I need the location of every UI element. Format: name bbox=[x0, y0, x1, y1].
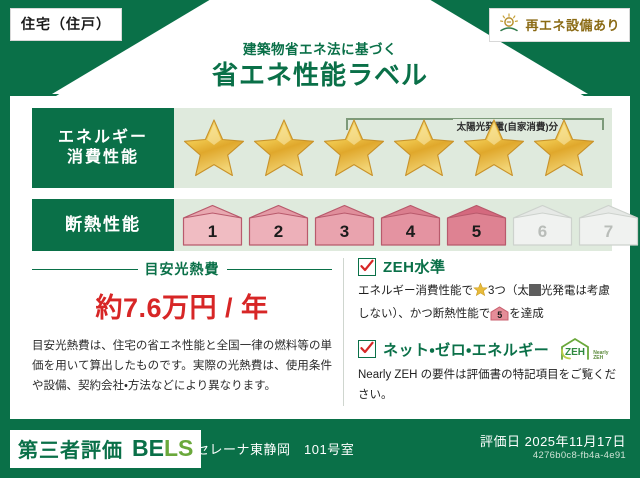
main-card: エネルギー 消費性能 太陽光発電(自家消費)分 断熱性能 1234567 bbox=[10, 96, 630, 419]
utility-cost-heading: 目安光熱費 bbox=[32, 259, 332, 279]
zeh-desc-part2: 3つ（太 bbox=[488, 285, 529, 297]
insulation-level-2: 2 bbox=[248, 204, 309, 246]
insulation-level-scale: 1234567 bbox=[174, 199, 612, 251]
insulation-level-1: 1 bbox=[182, 204, 243, 246]
insulation-level-value: 4 bbox=[380, 222, 441, 242]
bels-logo-part2: LS bbox=[164, 435, 193, 461]
energy-label-line2: 消費性能 bbox=[67, 148, 139, 168]
zeh-logo-sub2: ZEH bbox=[593, 355, 603, 361]
housing-type-tag: 住宅（住戸） bbox=[10, 8, 122, 41]
utility-cost-block: 目安光熱費 約7.6万円 / 年 目安光熱費は、住宅の省エネ性能と全国一律の燃料… bbox=[32, 259, 332, 396]
insulation-level-3: 3 bbox=[314, 204, 375, 246]
insulation-performance-label: 断熱性能 bbox=[32, 199, 174, 251]
evaluation-date: 評価日 2025年11月17日 bbox=[480, 431, 626, 450]
insulation-performance-row: 断熱性能 1234567 bbox=[32, 199, 612, 251]
zeh-desc-part1: エネルギー消費性能で bbox=[358, 285, 473, 297]
utility-cost-heading-text: 目安光熱費 bbox=[145, 259, 220, 279]
insulation-level-5: 5 bbox=[446, 204, 507, 246]
third-party-eval-label: 第三者評価 bbox=[18, 434, 123, 463]
heading-rule-right bbox=[227, 269, 333, 270]
checkbox-checked-icon bbox=[358, 258, 376, 276]
star-5 bbox=[460, 115, 528, 181]
insulation-level-value: 6 bbox=[512, 222, 573, 242]
insulation-level-6: 6 bbox=[512, 204, 573, 246]
star-1 bbox=[180, 115, 248, 181]
insulation-performance-body: 1234567 bbox=[174, 199, 612, 251]
insulation-level-value: 2 bbox=[248, 222, 309, 242]
zeh-level-heading: ZEH水準 bbox=[358, 256, 620, 277]
insulation-level-value: 1 bbox=[182, 222, 243, 242]
zeh-level-description: エネルギー消費性能で3つ（太光発電は考慮しない）、かつ断熱性能で5を達成 bbox=[358, 281, 620, 324]
redacted-block bbox=[529, 284, 541, 296]
insulation-level-4: 4 bbox=[380, 204, 441, 246]
star-2 bbox=[250, 115, 318, 181]
zeh-level-title: ZEH水準 bbox=[383, 256, 446, 277]
insulation-level-value: 5 bbox=[446, 222, 507, 242]
evaluation-id: 4276b0c8-fb4a-4e91 bbox=[533, 450, 626, 461]
utility-cost-note: 目安光熱費は、住宅の省エネ性能と全国一律の燃料等の単価を用いて算出したものです。… bbox=[32, 337, 332, 396]
column-divider bbox=[343, 258, 344, 406]
energy-performance-label: エネルギー 消費性能 bbox=[32, 108, 174, 188]
star-3 bbox=[320, 115, 388, 181]
zeh-logo-subtext: Nearly ZEH bbox=[593, 351, 608, 362]
energy-performance-row: エネルギー 消費性能 太陽光発電(自家消費)分 bbox=[32, 108, 612, 188]
certification-column: ZEH水準 エネルギー消費性能で3つ（太光発電は考慮しない）、かつ断熱性能で5を… bbox=[358, 256, 620, 406]
insulation-label-text: 断熱性能 bbox=[65, 214, 141, 235]
inline-house-value: 5 bbox=[490, 308, 509, 324]
zeh-logo: ZEH Nearly ZEH bbox=[559, 337, 608, 361]
star-4 bbox=[390, 115, 458, 181]
inline-house-icon: 5 bbox=[490, 306, 509, 321]
star-6 bbox=[530, 115, 598, 181]
insulation-level-value: 7 bbox=[578, 222, 639, 242]
net-zero-title: ネット・ゼロ・エネルギー bbox=[383, 339, 549, 360]
zeh-logo-text: ZEH bbox=[565, 347, 585, 358]
renewable-tag-label: 再エネ設備あり bbox=[525, 15, 620, 34]
energy-label-root: 住宅（住戸） 再エネ設備あり 建築物省エネ法に基づく 省エネ性能ラベル bbox=[0, 0, 640, 478]
energy-performance-body: 太陽光発電(自家消費)分 bbox=[174, 108, 612, 188]
net-zero-heading: ネット・ゼロ・エネルギー ZEH Nearly ZEH bbox=[358, 337, 620, 361]
bels-logo-part1: BE bbox=[132, 435, 164, 461]
insulation-level-7: 7 bbox=[578, 204, 639, 246]
checkbox-checked-icon-2 bbox=[358, 340, 376, 358]
net-zero-description: Nearly ZEH の要件は評価書の特記項目をご覧ください。 bbox=[358, 365, 620, 405]
bels-logo: BELS bbox=[132, 435, 193, 462]
utility-cost-amount: 約7.6万円 / 年 bbox=[32, 286, 332, 325]
insulation-level-value: 3 bbox=[314, 222, 375, 242]
energy-star-rating bbox=[174, 108, 612, 188]
zeh-desc-part4: を達成 bbox=[509, 308, 544, 320]
bels-badge: 第三者評価 BELS bbox=[10, 430, 201, 468]
heading-rule-left bbox=[32, 269, 138, 270]
inline-star-icon bbox=[473, 282, 488, 304]
label-title: 省エネ性能ラベル bbox=[0, 55, 640, 92]
sun-icon bbox=[498, 13, 520, 36]
footer-bar: 第三者評価 BELS セレーナ東静岡 101号室 評価日 2025年11月17日… bbox=[0, 422, 640, 478]
energy-label-line1: エネルギー bbox=[58, 128, 148, 148]
building-name: セレーナ東静岡 101号室 bbox=[196, 439, 354, 458]
renewable-equipment-tag: 再エネ設備あり bbox=[489, 8, 630, 42]
